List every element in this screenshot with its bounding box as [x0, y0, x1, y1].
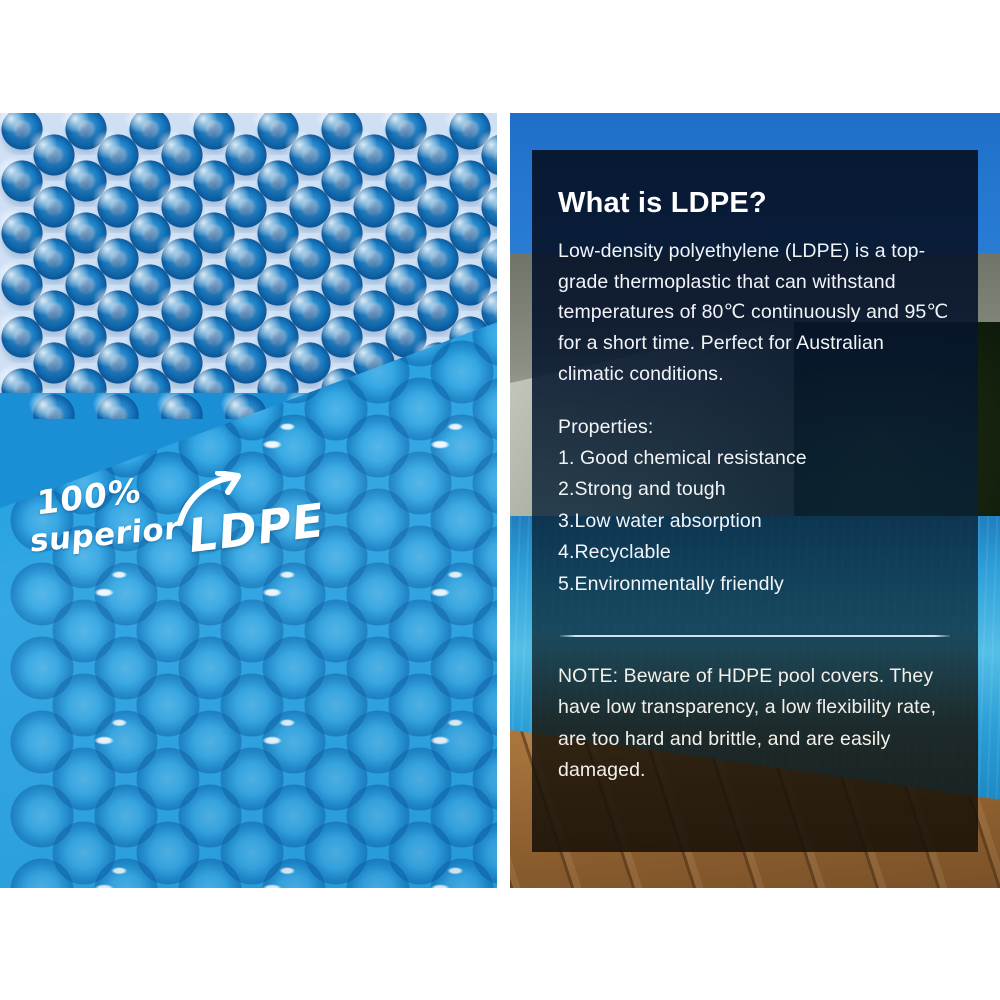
- card-intro-paragraph: Low-density polyethylene (LDPE) is a top…: [558, 236, 952, 390]
- handwritten-caption: 100% superior LDPE: [28, 471, 348, 581]
- list-item: 3.Low water absorption: [558, 506, 952, 538]
- list-item: 2.Strong and tough: [558, 474, 952, 506]
- pool-photo-panel: What is LDPE? Low-density polyethylene (…: [510, 113, 1000, 888]
- note-paragraph: NOTE: Beware of HDPE pool covers. They h…: [558, 661, 952, 787]
- list-item: 5.Environmentally friendly: [558, 569, 952, 601]
- list-item: 4.Recyclable: [558, 537, 952, 569]
- list-item: 1. Good chemical resistance: [558, 443, 952, 475]
- properties-list: 1. Good chemical resistance 2.Strong and…: [558, 443, 952, 601]
- card-title: What is LDPE?: [558, 188, 952, 220]
- bubble-cover-image-panel: 100% superior LDPE: [0, 113, 497, 888]
- properties-heading: Properties:: [558, 412, 952, 443]
- page-root: 100% superior LDPE What is LDPE? Low-den…: [0, 0, 1000, 1000]
- info-card: What is LDPE? Low-density polyethylene (…: [532, 150, 978, 852]
- section-divider: [560, 635, 950, 637]
